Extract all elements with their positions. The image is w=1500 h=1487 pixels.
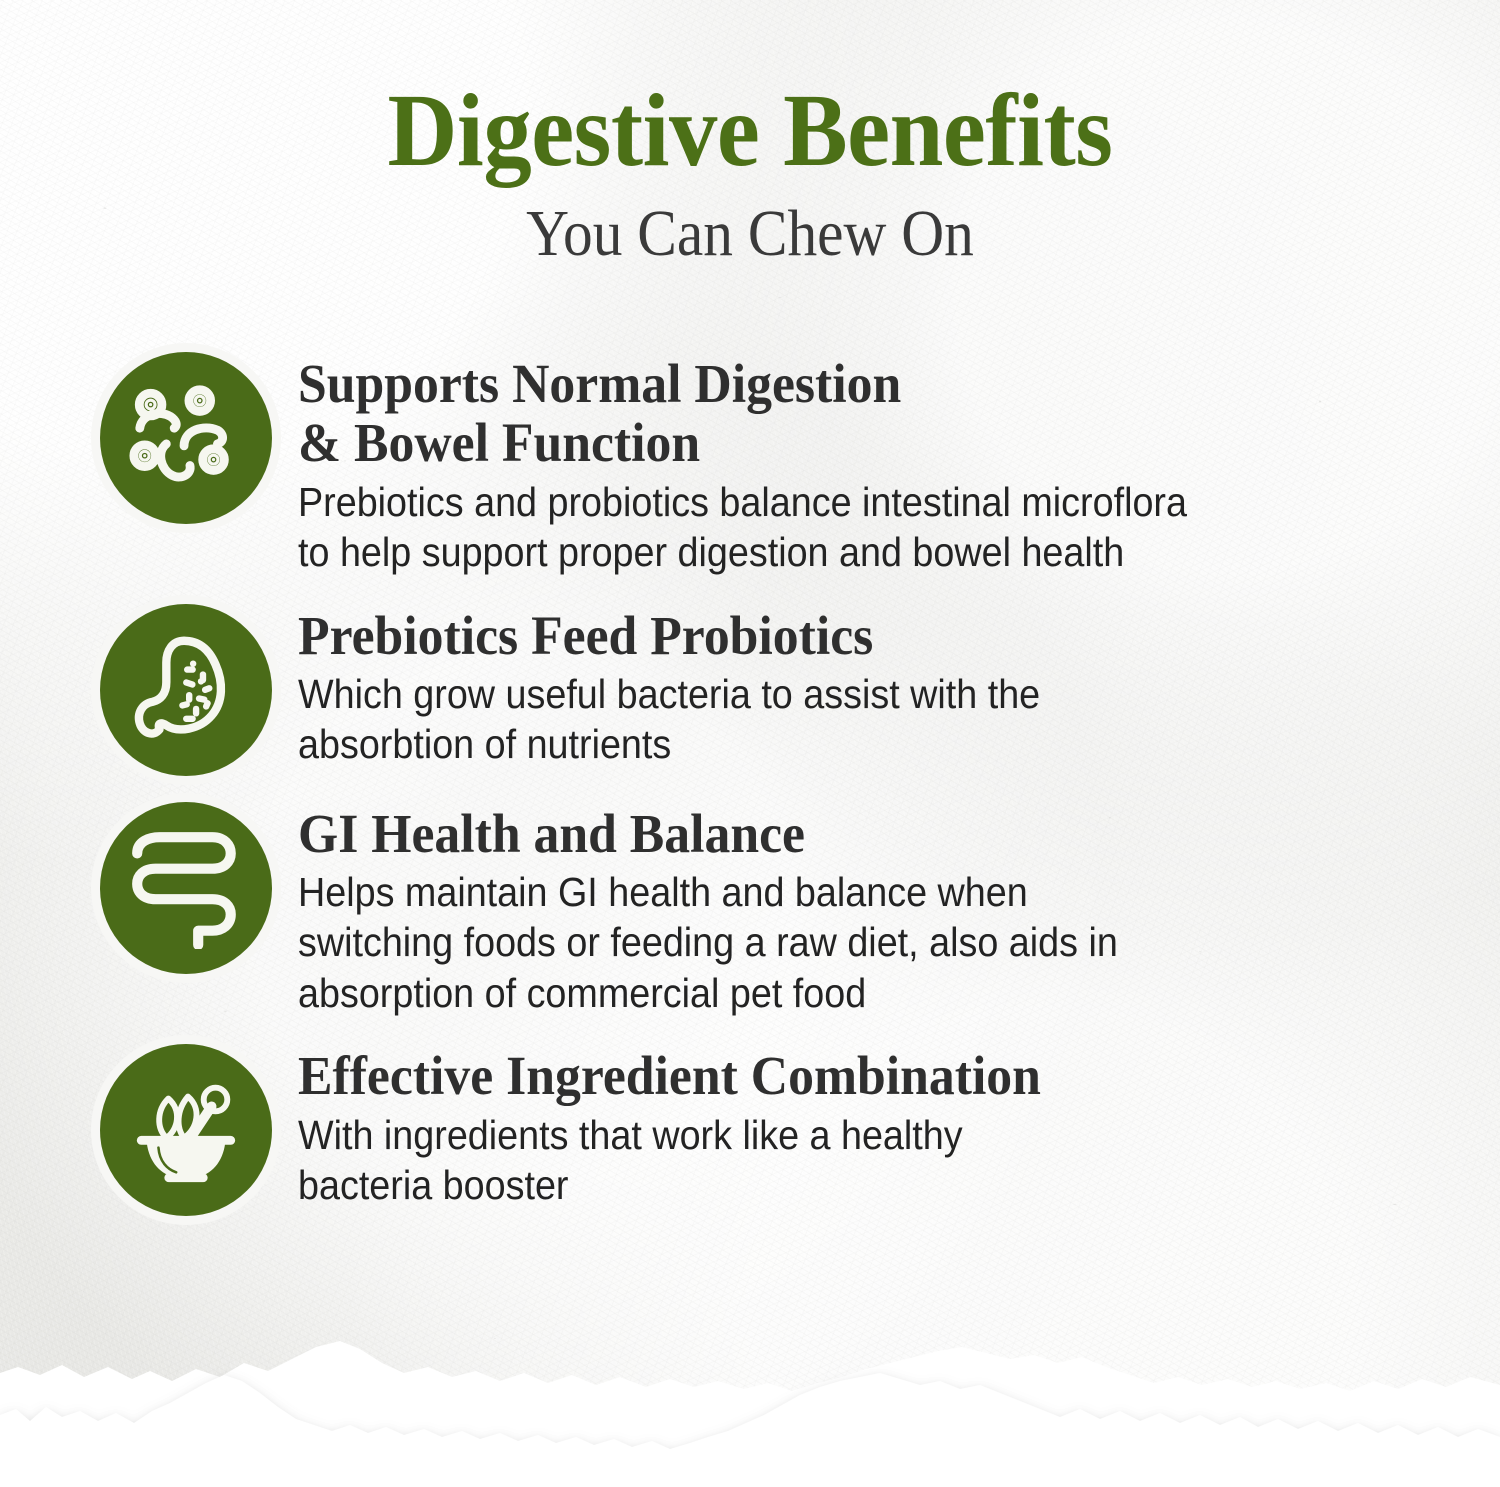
benefit-item: GI Health and Balance Helps maintain GI … — [0, 802, 1500, 1019]
benefit-description: With ingredients that work like a health… — [298, 1110, 1367, 1211]
benefit-icon-wrapper — [100, 802, 272, 974]
benefit-description: Prebiotics and probiotics balance intest… — [298, 477, 1367, 578]
benefit-description: Helps maintain GI health and balance whe… — [298, 867, 1367, 1018]
benefit-heading: GI Health and Balance — [298, 804, 1390, 863]
benefit-text-block: Prebiotics Feed Probiotics Which grow us… — [298, 604, 1460, 770]
benefit-heading: Supports Normal Digestion & Bowel Functi… — [298, 354, 1390, 473]
benefit-icon-wrapper — [100, 604, 272, 776]
benefits-list: Supports Normal Digestion & Bowel Functi… — [0, 352, 1500, 1242]
page-subtitle: You Can Chew On — [75, 198, 1425, 271]
benefit-heading: Prebiotics Feed Probiotics — [298, 606, 1390, 665]
benefit-text-block: Supports Normal Digestion & Bowel Functi… — [298, 352, 1460, 578]
benefit-item: Effective Ingredient Combination With in… — [0, 1044, 1500, 1216]
poster-header: Digestive Benefits You Can Chew On — [0, 78, 1500, 271]
intestines-icon — [100, 802, 272, 974]
benefit-text-block: GI Health and Balance Helps maintain GI … — [298, 802, 1460, 1019]
digestive-benefits-poster: Digestive Benefits You Can Chew On — [0, 0, 1500, 1487]
benefit-item: Supports Normal Digestion & Bowel Functi… — [0, 352, 1500, 578]
bacteria-icon — [100, 352, 272, 524]
stomach-icon — [100, 604, 272, 776]
mortar-pestle-icon — [100, 1044, 272, 1216]
benefit-description: Which grow useful bacteria to assist wit… — [298, 669, 1367, 770]
page-title: Digestive Benefits — [53, 78, 1448, 184]
benefit-text-block: Effective Ingredient Combination With in… — [298, 1044, 1460, 1210]
benefit-heading: Effective Ingredient Combination — [298, 1046, 1390, 1105]
benefit-item: Prebiotics Feed Probiotics Which grow us… — [0, 604, 1500, 776]
benefit-icon-wrapper — [100, 352, 272, 524]
benefit-icon-wrapper — [100, 1044, 272, 1216]
